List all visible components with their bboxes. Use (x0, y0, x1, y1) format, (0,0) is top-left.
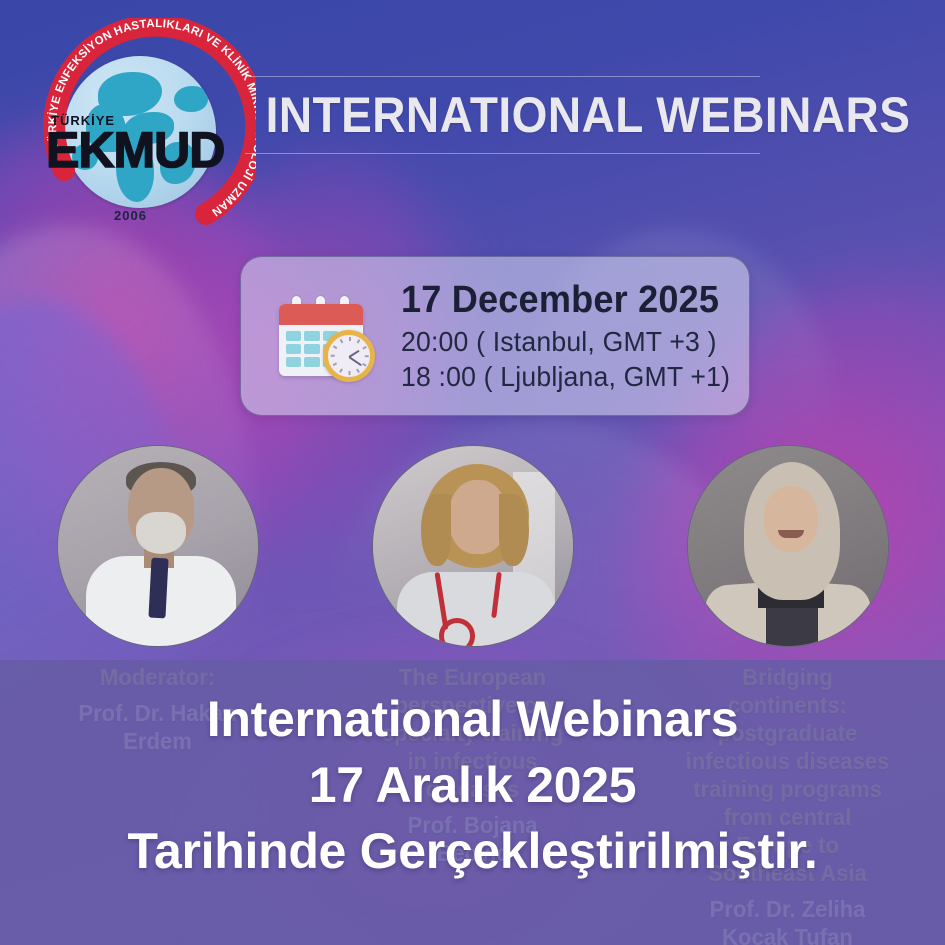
logo-wordmark: TÜRKİYE EKMUD (46, 114, 221, 175)
ekmud-logo: TÜRKİYE ENFEKSİYON HASTALIKLARI VE KLİNİ… (36, 18, 256, 242)
calendar-clock-icon (271, 288, 379, 384)
logo-name: EKMUD (46, 127, 221, 175)
completion-message: International Webinars 17 Aralık 2025 Ta… (0, 686, 945, 884)
title-rule-bottom (245, 153, 760, 154)
page-title: INTERNATIONAL WEBINARS (266, 77, 740, 153)
date-time-card: 17 December 2025 20:00 ( Istanbul, GMT +… (240, 256, 750, 416)
completion-message-line-1: International Webinars (0, 686, 945, 752)
completion-message-line-2: 17 Aralık 2025 (0, 752, 945, 818)
event-date: 17 December 2025 (401, 279, 730, 322)
avatar (687, 445, 889, 647)
logo-founding-year: 2006 (114, 208, 147, 223)
header-title-block: INTERNATIONAL WEBINARS (245, 76, 760, 154)
poster-header: TÜRKİYE ENFEKSİYON HASTALIKLARI VE KLİNİ… (0, 0, 945, 250)
avatar (372, 445, 574, 647)
webinar-poster: TÜRKİYE ENFEKSİYON HASTALIKLARI VE KLİNİ… (0, 0, 945, 945)
clock-icon (323, 330, 375, 382)
event-time-ljubljana: 18 :00 ( Ljubljana, GMT +1) (401, 361, 730, 392)
date-time-text: 17 December 2025 20:00 ( Istanbul, GMT +… (401, 279, 748, 392)
completion-message-line-3: Tarihinde Gerçekleştirilmiştir. (0, 818, 945, 884)
avatar (57, 445, 259, 647)
event-time-istanbul: 20:00 ( Istanbul, GMT +3 ) (401, 326, 730, 357)
